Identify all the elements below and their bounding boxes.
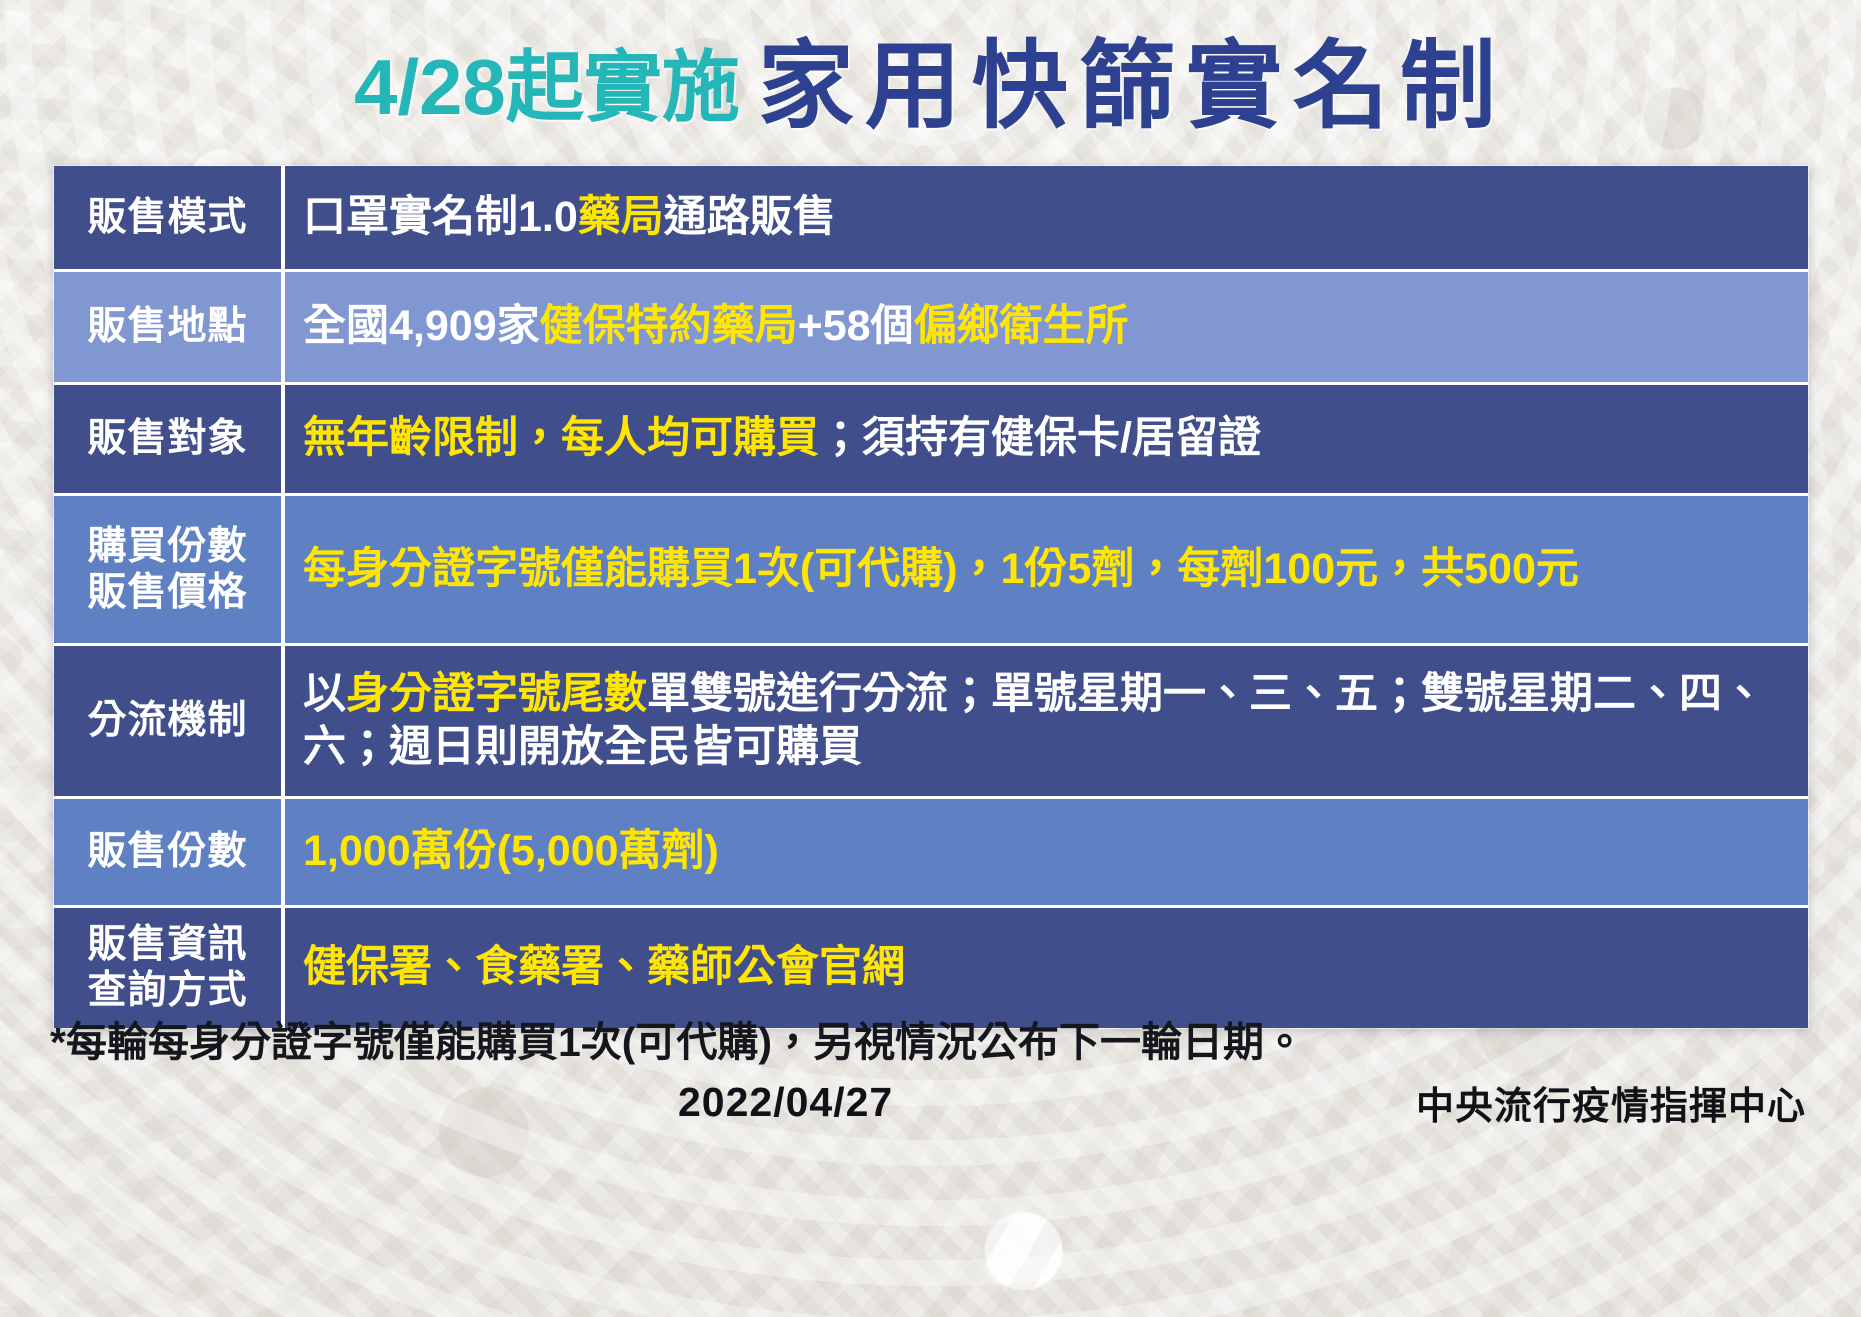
row-value-segment: +58個 bbox=[798, 302, 914, 350]
row-value-segment: 口罩實名制1.0 bbox=[303, 193, 578, 241]
title-highlight-text: 4/28起實施 bbox=[354, 48, 740, 126]
row-label: 販售地點 bbox=[54, 272, 285, 382]
row-value-segment: 身分證字號尾數 bbox=[346, 670, 647, 718]
row-value-segment: 健保署、食藥署、藥師公會官網 bbox=[303, 943, 905, 991]
row-value-segment: 以 bbox=[303, 670, 346, 718]
row-value-segment: 全國4,909家 bbox=[303, 302, 540, 350]
table-row: 分流機制以身分證字號尾數單雙號進行分流；單號星期一、三、五；雙號星期二、四、六；… bbox=[54, 646, 1808, 799]
row-label: 販售份數 bbox=[54, 799, 285, 905]
page-title: 4/28起實施 家用快篩實名制 bbox=[0, 22, 1861, 152]
row-label: 販售模式 bbox=[54, 166, 285, 269]
table-row: 販售份數1,000萬份(5,000萬劑) bbox=[54, 799, 1808, 908]
table-row: 販售模式口罩實名制1.0藥局通路販售 bbox=[54, 166, 1808, 272]
row-value-segment: 偏鄉衛生所 bbox=[914, 302, 1129, 350]
footer-bar: 2022/04/27 中央流行疫情指揮中心 bbox=[53, 1072, 1808, 1132]
row-value: 全國4,909家健保特約藥局+58個偏鄉衛生所 bbox=[285, 272, 1808, 382]
row-value-segment: 通路販售 bbox=[664, 193, 836, 241]
row-value: 無年齡限制，每人均可購買；須持有健保卡/居留證 bbox=[285, 385, 1808, 493]
row-value-segment: 藥局 bbox=[578, 193, 664, 241]
info-table: 販售模式口罩實名制1.0藥局通路販售販售地點全國4,909家健保特約藥局+58個… bbox=[53, 165, 1809, 1029]
row-value-segment: 每身分證字號僅能購買1次(可代購)，1份5劑，每劑100元，共500元 bbox=[303, 545, 1579, 593]
row-value: 以身分證字號尾數單雙號進行分流；單號星期一、三、五；雙號星期二、四、六；週日則開… bbox=[285, 646, 1808, 796]
row-value-segment: ；須持有健保卡/居留證 bbox=[819, 414, 1261, 462]
footer-date: 2022/04/27 bbox=[678, 1079, 893, 1126]
table-row: 販售對象無年齡限制，每人均可購買；須持有健保卡/居留證 bbox=[54, 385, 1808, 496]
row-label: 購買份數 販售價格 bbox=[54, 496, 285, 643]
row-value: 每身分證字號僅能購買1次(可代購)，1份5劑，每劑100元，共500元 bbox=[285, 496, 1808, 643]
row-value-segment: 1,000萬份(5,000萬劑) bbox=[303, 827, 719, 875]
row-value: 1,000萬份(5,000萬劑) bbox=[285, 799, 1808, 905]
table-row: 購買份數 販售價格每身分證字號僅能購買1次(可代購)，1份5劑，每劑100元，共… bbox=[54, 496, 1808, 646]
footer-organization: 中央流行疫情指揮中心 bbox=[1416, 1075, 1806, 1130]
row-label: 分流機制 bbox=[54, 646, 285, 796]
table-row: 販售地點全國4,909家健保特約藥局+58個偏鄉衛生所 bbox=[54, 272, 1808, 385]
row-value: 口罩實名制1.0藥局通路販售 bbox=[285, 166, 1808, 269]
infographic-page: 4/28起實施 家用快篩實名制 販售模式口罩實名制1.0藥局通路販售販售地點全國… bbox=[0, 0, 1861, 1317]
row-label: 販售對象 bbox=[54, 385, 285, 493]
footnote-text: *每輪每身分證字號僅能購買1次(可代購)，另視情況公布下一輪日期。 bbox=[50, 1008, 1305, 1068]
row-value-segment: 無年齡限制，每人均可購買 bbox=[303, 414, 819, 462]
row-value-segment: 健保特約藥局 bbox=[540, 302, 798, 350]
title-main-text: 家用快篩實名制 bbox=[758, 39, 1507, 135]
